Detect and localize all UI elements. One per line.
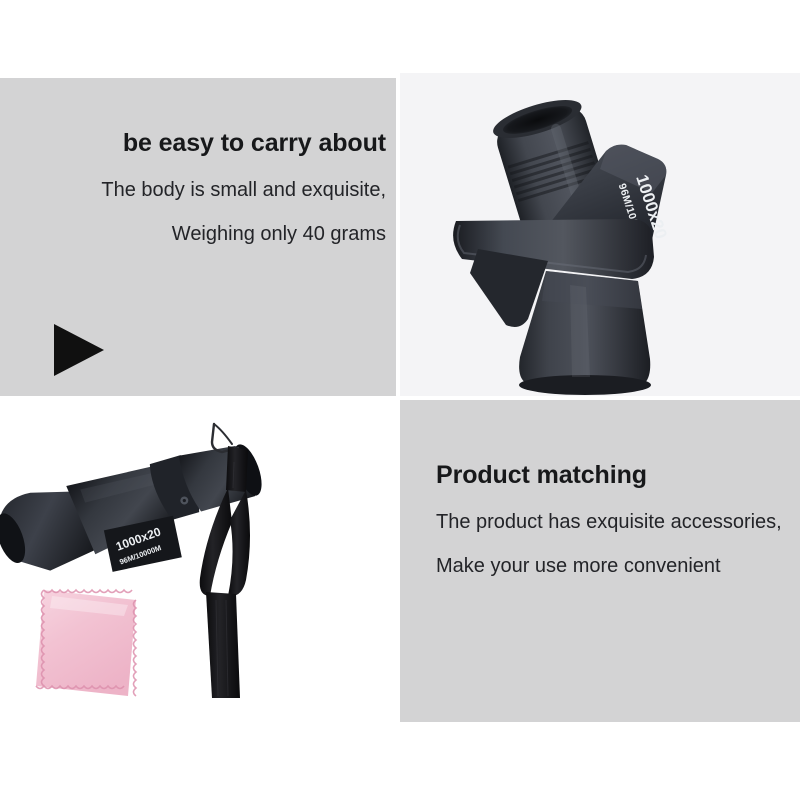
monocular-hero-illustration: 1000x20 96M/10000M [400,73,800,396]
matching-headline: Product matching [436,462,796,490]
strap-sleeve [226,446,248,492]
carry-headline: be easy to carry about [16,130,386,158]
panel-product-photo: 1000x20 96M/10000M [400,73,800,396]
carry-text-block: be easy to carry about The body is small… [16,130,386,244]
cleaning-cloth-group [36,590,136,696]
objective-barrel-group [519,271,651,395]
matching-subline-2: Make your use more convenient [436,556,796,576]
matching-subline-1: The product has exquisite accessories, [436,512,796,532]
carry-subline-1: The body is small and exquisite, [16,180,386,200]
strap-tail [206,592,240,698]
triangle-right-icon [54,324,104,376]
infographic-page: be easy to carry about The body is small… [0,0,800,800]
panel-accessories-photo: 1000x20 96M/10000M [0,400,396,722]
panel-product-matching: Product matching The product has exquisi… [400,400,800,722]
accessories-illustration: 1000x20 96M/10000M [0,400,396,722]
panel-be-easy-to-carry: be easy to carry about The body is small… [0,78,396,396]
carry-subline-2: Weighing only 40 grams [16,224,386,244]
matching-text-block: Product matching The product has exquisi… [436,462,796,576]
